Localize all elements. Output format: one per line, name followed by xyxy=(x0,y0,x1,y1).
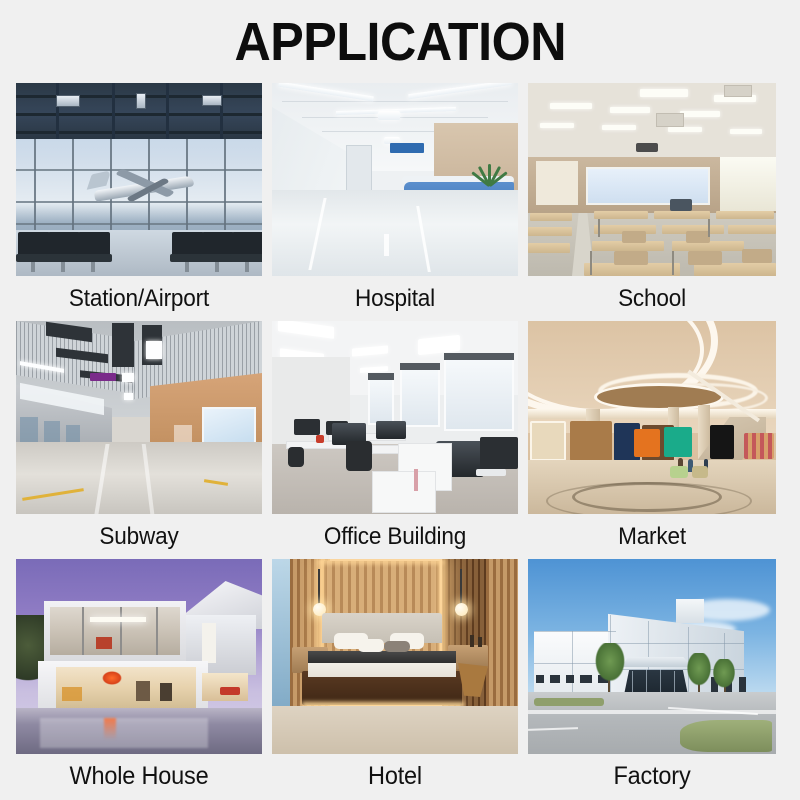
application-card-label: Hotel xyxy=(279,754,510,799)
application-grid: Station/Airport xyxy=(0,83,800,799)
application-card-label: Market xyxy=(535,514,768,559)
application-card-label: Hospital xyxy=(279,276,510,321)
application-grid-page: APPLICATION xyxy=(0,0,800,800)
platform-banner xyxy=(90,373,116,381)
application-card-whole-house[interactable]: Whole House xyxy=(16,559,262,799)
projector-icon xyxy=(636,143,658,152)
application-card-label: Office Building xyxy=(279,514,510,559)
hospital-corridor-photo xyxy=(272,83,518,276)
industrial-building-photo xyxy=(528,559,776,754)
subway-platform-photo xyxy=(16,321,262,514)
open-plan-office-photo xyxy=(272,321,518,514)
application-card-market[interactable]: Market xyxy=(528,321,776,559)
shopping-mall-atrium-photo xyxy=(528,321,776,514)
application-card-label: Factory xyxy=(535,754,768,799)
airport-terminal-photo xyxy=(16,83,262,276)
classroom-photo xyxy=(528,83,776,276)
application-card-label: Subway xyxy=(23,514,254,559)
page-title: APPLICATION xyxy=(234,15,566,69)
application-card-hotel[interactable]: Hotel xyxy=(272,559,518,799)
application-card-subway[interactable]: Subway xyxy=(16,321,262,559)
modern-villa-photo xyxy=(16,559,262,754)
application-card-label: School xyxy=(535,276,768,321)
airplane-icon xyxy=(86,169,198,203)
application-card-station-airport[interactable]: Station/Airport xyxy=(16,83,262,321)
application-card-school[interactable]: School xyxy=(528,83,776,321)
application-card-hospital[interactable]: Hospital xyxy=(272,83,518,321)
application-card-factory[interactable]: Factory xyxy=(528,559,776,799)
plant-icon xyxy=(476,152,502,186)
page-title-bar: APPLICATION xyxy=(0,0,800,83)
pendant-lamp-icon xyxy=(455,603,468,616)
hotel-bedroom-photo xyxy=(272,559,518,754)
application-card-office-building[interactable]: Office Building xyxy=(272,321,518,559)
application-card-label: Whole House xyxy=(23,754,254,799)
application-card-label: Station/Airport xyxy=(23,276,254,321)
corridor-sign xyxy=(390,143,424,153)
